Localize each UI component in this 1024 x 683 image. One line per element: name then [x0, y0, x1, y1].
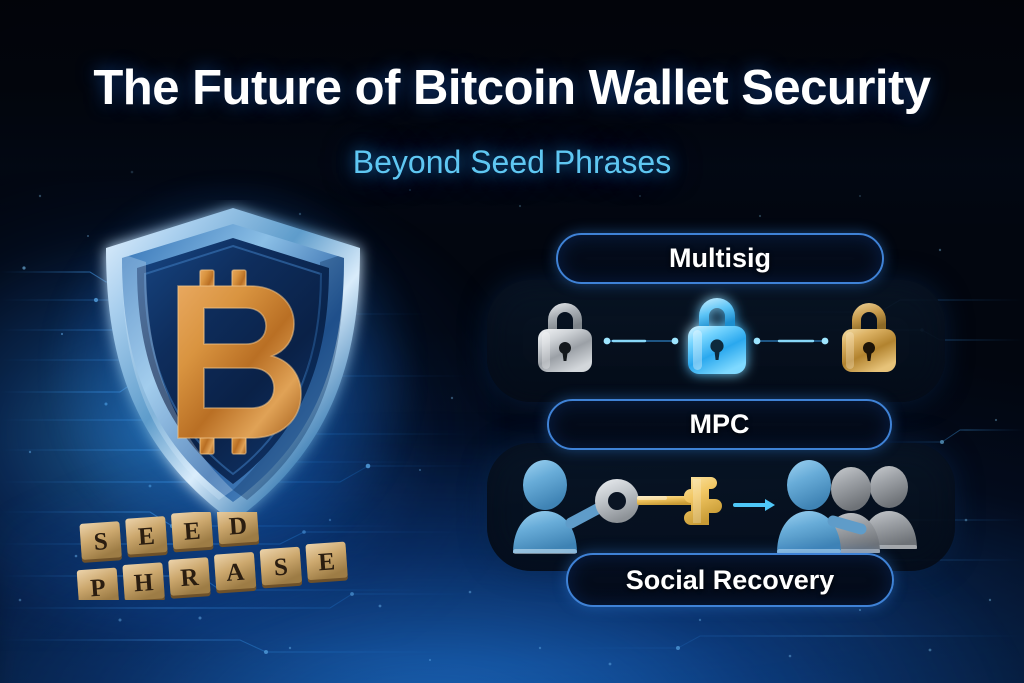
svg-text:S: S [93, 528, 109, 556]
seed-phrase-graphic: S E E D [74, 512, 374, 600]
person-icon-blue-left [513, 460, 601, 554]
multisig-locks-graphic [487, 280, 945, 402]
people-group-icon [777, 460, 917, 554]
multisig-panel [487, 280, 945, 402]
svg-text:P: P [89, 574, 106, 600]
arrow-right-icon [735, 499, 775, 511]
svg-text:D: D [228, 512, 248, 540]
padlock-icon-cyan [688, 298, 746, 374]
padlock-icon-silver [538, 303, 592, 372]
svg-text:E: E [183, 518, 202, 546]
mpc-actors-graphic [487, 443, 955, 571]
connector-right [754, 338, 829, 345]
padlock-icon-gold [842, 303, 896, 372]
seed-phrase-tiles: S E E D [74, 512, 374, 600]
svg-text:R: R [179, 564, 200, 592]
connector-left [604, 338, 679, 345]
puzzle-key-icon [684, 477, 722, 525]
method-pill-social-recovery[interactable]: Social Recovery [566, 553, 894, 607]
poster-canvas: The Future of Bitcoin Wallet Security Be… [0, 0, 1024, 683]
mpc-panel [487, 443, 955, 571]
page-title: The Future of Bitcoin Wallet Security [0, 60, 1024, 116]
method-pill-multisig[interactable]: Multisig [556, 233, 884, 284]
bitcoin-shield-icon [88, 200, 378, 530]
svg-text:E: E [317, 548, 336, 576]
key-icon [595, 479, 693, 523]
svg-text:S: S [273, 554, 289, 582]
svg-text:A: A [225, 559, 245, 587]
page-subtitle: Beyond Seed Phrases [0, 144, 1024, 181]
bitcoin-shield-graphic [88, 200, 378, 530]
svg-text:H: H [133, 569, 155, 597]
svg-text:E: E [137, 523, 156, 551]
method-pill-mpc[interactable]: MPC [547, 399, 892, 450]
